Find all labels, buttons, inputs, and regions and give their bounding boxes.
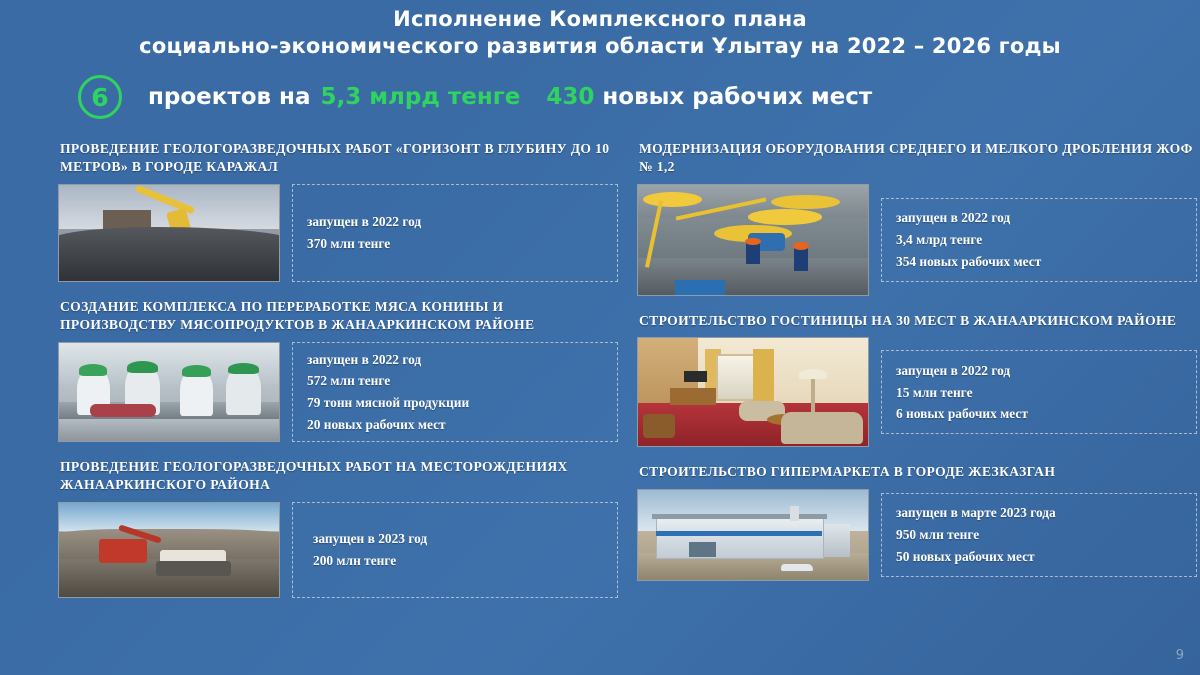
fact-line: запущен в 2022 год — [896, 207, 1182, 229]
open-pit-mining-photo — [58, 502, 280, 598]
fact-line: 15 млн тенге — [896, 382, 1182, 404]
kpi-jobs-label: новых рабочих мест — [602, 84, 872, 110]
meat-plant-scene-icon — [59, 343, 279, 441]
project-card-hypermarket: СТРОИТЕЛЬСТВО ГИПЕРМАРКЕТА В ГОРОДЕ ЖЕЗК… — [637, 463, 1197, 580]
kpi-summary-row: 6 проектов на 5,3 млрд тенге 430 новых р… — [78, 74, 872, 120]
project-facts-box: запущен в 2022 год 572 млн тенге 79 тонн… — [292, 342, 618, 442]
project-facts-box: запущен в 2022 год 370 млн тенге — [292, 184, 618, 282]
fact-line: запущен в марте 2023 года — [896, 502, 1182, 524]
fact-line: 6 новых рабочих мест — [896, 403, 1182, 425]
project-card-crusher-modernization: МОДЕРНИЗАЦИЯ ОБОРУДОВАНИЯ СРЕДНЕГО И МЕЛ… — [637, 140, 1197, 296]
project-facts-box: запущен в марте 2023 года 950 млн тенге … — [881, 493, 1197, 577]
crusher-plant-scene-icon — [638, 185, 868, 295]
project-card-hotel-construction: СТРОИТЕЛЬСТВО ГОСТИНИЦЫ НА 30 МЕСТ В ЖАН… — [637, 312, 1197, 447]
project-title: СОЗДАНИЕ КОМПЛЕКСА ПО ПЕРЕРАБОТКЕ МЯСА К… — [60, 298, 618, 335]
fact-line: 950 млн тенге — [896, 524, 1182, 546]
project-facts-box: запущен в 2022 год 15 млн тенге 6 новых … — [881, 350, 1197, 434]
hotel-room-scene-icon — [638, 338, 868, 446]
fact-line: запущен в 2022 год — [307, 211, 603, 233]
title-line-2: социально-экономического развития област… — [0, 33, 1200, 60]
quarry-scene-icon — [59, 185, 279, 281]
fact-line: запущен в 2023 год — [313, 528, 603, 550]
project-title: СТРОИТЕЛЬСТВО ГИПЕРМАРКЕТА В ГОРОДЕ ЖЕЗК… — [639, 463, 1197, 481]
page-number: 9 — [1176, 648, 1184, 663]
fact-line: 20 новых рабочих мест — [307, 414, 603, 436]
fact-line: 200 млн тенге — [313, 550, 603, 572]
project-count-badge: 6 — [78, 75, 122, 119]
fact-line: 50 новых рабочих мест — [896, 546, 1182, 568]
excavator-quarry-photo — [58, 184, 280, 282]
project-card-geology-zhanaarka: ПРОВЕДЕНИЕ ГЕОЛОГОРАЗВЕДОЧНЫХ РАБОТ НА М… — [58, 458, 618, 598]
project-facts-box: запущен в 2022 год 3,4 млрд тенге 354 но… — [881, 198, 1197, 282]
title-line-1: Исполнение Комплексного плана — [0, 6, 1200, 33]
fact-line: 354 новых рабочих мест — [896, 251, 1182, 273]
fact-line: 79 тонн мясной продукции — [307, 392, 603, 414]
ore-processing-plant-photo — [637, 184, 869, 296]
hotel-room-photo — [637, 337, 869, 447]
kpi-amount: 5,3 млрд тенге — [320, 84, 520, 110]
slide-root: Исполнение Комплексного плана социально-… — [0, 0, 1200, 675]
right-project-column: МОДЕРНИЗАЦИЯ ОБОРУДОВАНИЯ СРЕДНЕГО И МЕЛ… — [637, 140, 1197, 581]
hypermarket-building-photo — [637, 489, 869, 581]
fact-line: 572 млн тенге — [307, 370, 603, 392]
kpi-text: проектов на 5,3 млрд тенге 430 новых раб… — [148, 84, 872, 110]
fact-line: запущен в 2022 год — [896, 360, 1182, 382]
fact-line: запущен в 2022 год — [307, 349, 603, 371]
fact-line: 3,4 млрд тенге — [896, 229, 1182, 251]
project-title: МОДЕРНИЗАЦИЯ ОБОРУДОВАНИЯ СРЕДНЕГО И МЕЛ… — [639, 140, 1197, 177]
hypermarket-scene-icon — [638, 490, 868, 580]
kpi-projects-label: проектов на — [148, 84, 310, 110]
project-title: СТРОИТЕЛЬСТВО ГОСТИНИЦЫ НА 30 МЕСТ В ЖАН… — [639, 312, 1197, 330]
project-title: ПРОВЕДЕНИЕ ГЕОЛОГОРАЗВЕДОЧНЫХ РАБОТ «ГОР… — [60, 140, 618, 177]
project-card-geology-karazhal: ПРОВЕДЕНИЕ ГЕОЛОГОРАЗВЕДОЧНЫХ РАБОТ «ГОР… — [58, 140, 618, 282]
left-project-column: ПРОВЕДЕНИЕ ГЕОЛОГОРАЗВЕДОЧНЫХ РАБОТ «ГОР… — [58, 140, 618, 598]
open-pit-scene-icon — [59, 503, 279, 597]
kpi-jobs-count: 430 — [546, 84, 594, 110]
project-facts-box: запущен в 2023 год 200 млн тенге — [292, 502, 618, 598]
fact-line: 370 млн тенге — [307, 233, 603, 255]
page-title: Исполнение Комплексного плана социально-… — [0, 6, 1200, 60]
meat-processing-plant-photo — [58, 342, 280, 442]
project-card-horsemeat-complex: СОЗДАНИЕ КОМПЛЕКСА ПО ПЕРЕРАБОТКЕ МЯСА К… — [58, 298, 618, 442]
project-title: ПРОВЕДЕНИЕ ГЕОЛОГОРАЗВЕДОЧНЫХ РАБОТ НА М… — [60, 458, 618, 495]
